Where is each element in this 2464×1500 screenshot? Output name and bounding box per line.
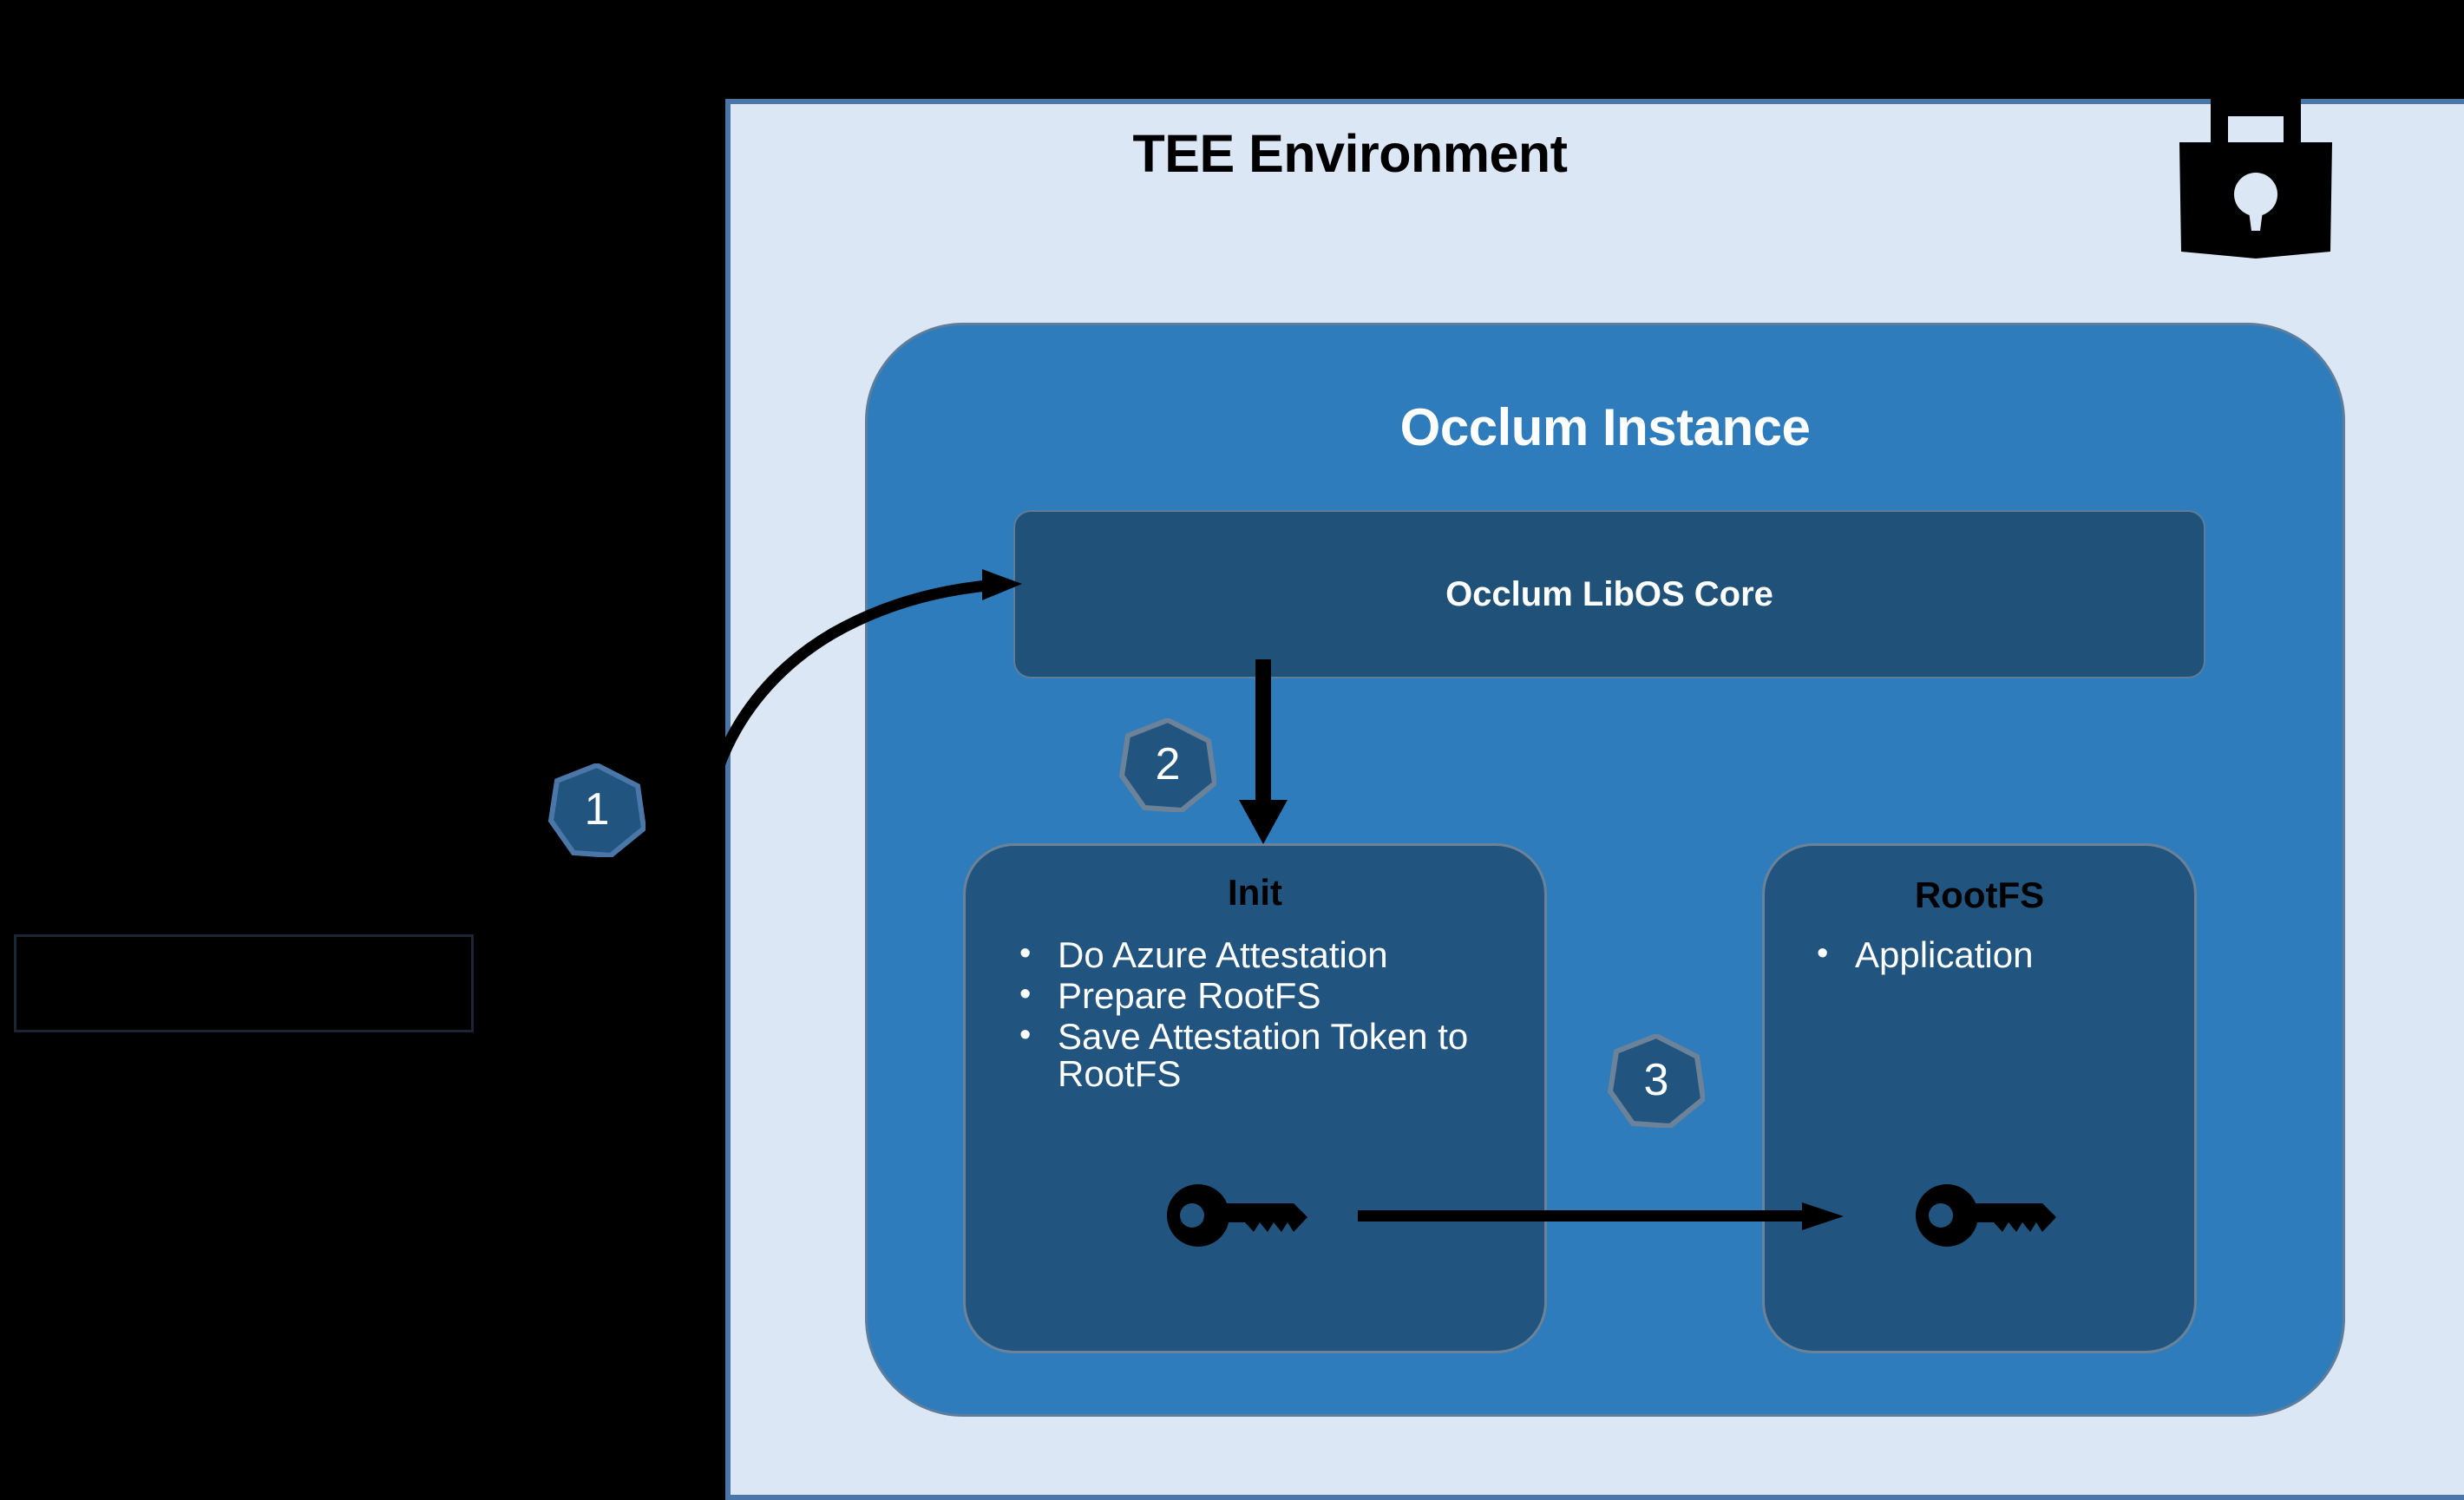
occlum-libos-core-label: Occlum LibOS Core: [1445, 575, 1773, 614]
step-badge-3-number: 3: [1608, 1034, 1705, 1128]
diagram-canvas: TEE Environment Occlum Instance Occlum L…: [0, 0, 2464, 1500]
step-badge-2-number: 2: [1119, 718, 1216, 812]
list-item: Application: [1817, 937, 2207, 974]
step-badge-2: 2: [1119, 718, 1216, 812]
lock-icon: [2162, 94, 2349, 259]
init-bullet-list: Do Azure Attestation Prepare RootFS Save…: [985, 937, 1557, 1096]
init-box: Init Do Azure Attestation Prepare RootFS…: [966, 846, 1544, 1351]
rootfs-bullet-list: Application: [1782, 937, 2207, 974]
key-icon: [1167, 1184, 1323, 1247]
step-badge-1-number: 1: [548, 763, 645, 857]
occlum-instance-title: Occlum Instance: [868, 397, 2343, 457]
list-item: Prepare RootFS: [1019, 978, 1557, 1015]
down-arrow-libos-to-init: [1213, 659, 1317, 846]
list-item: Save Attestation Token to RootFS: [1019, 1019, 1557, 1093]
rootfs-title: RootFS: [1765, 874, 2194, 916]
step-badge-1: 1: [548, 763, 645, 857]
curved-arrow-to-libos-core: [677, 538, 1041, 859]
tee-environment-title: TEE Environment: [725, 123, 1975, 184]
step-badge-3: 3: [1608, 1034, 1705, 1128]
rootfs-box: RootFS Application: [1765, 846, 2194, 1351]
right-arrow-init-key-to-rootfs-key: [1358, 1199, 1844, 1234]
init-title: Init: [966, 872, 1544, 914]
key-icon: [1916, 1184, 2072, 1247]
occlum-instance-box: Occlum Instance Occlum LibOS Core Init D…: [868, 325, 2343, 1414]
occlum-libos-core-box: Occlum LibOS Core: [1015, 512, 2204, 677]
left-placeholder-box: [14, 934, 474, 1032]
list-item: Do Azure Attestation: [1019, 937, 1557, 974]
